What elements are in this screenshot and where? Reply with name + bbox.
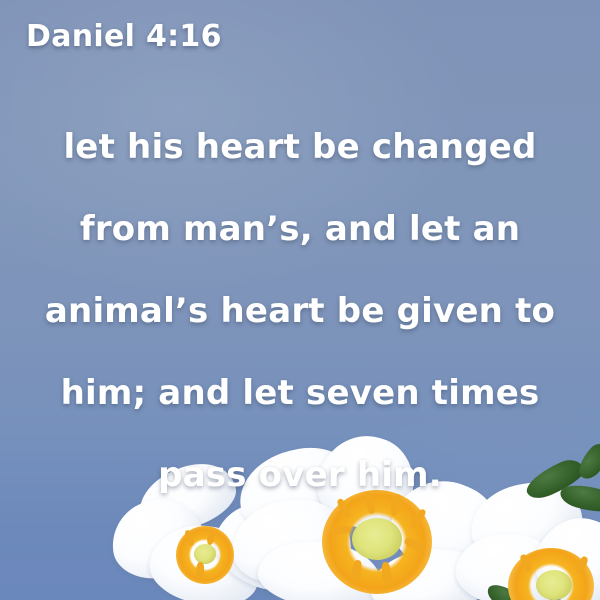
verse-line: animal’s heart be given to	[34, 270, 566, 352]
verse-line: him; and let seven times	[34, 352, 566, 434]
right-flower-center	[536, 570, 572, 600]
verse-text-block: let his heart be changed from man’s, and…	[0, 106, 600, 516]
verse-line: pass over him.	[34, 434, 566, 516]
verse-line: from man’s, and let an	[34, 188, 566, 270]
main-flower-center	[352, 518, 402, 560]
verse-line: let his heart be changed	[34, 106, 566, 188]
verse-image-card: Daniel 4:16 let his heart be changed fro…	[0, 0, 600, 600]
left-flower-center	[194, 544, 216, 564]
verse-reference: Daniel 4:16	[26, 19, 222, 54]
